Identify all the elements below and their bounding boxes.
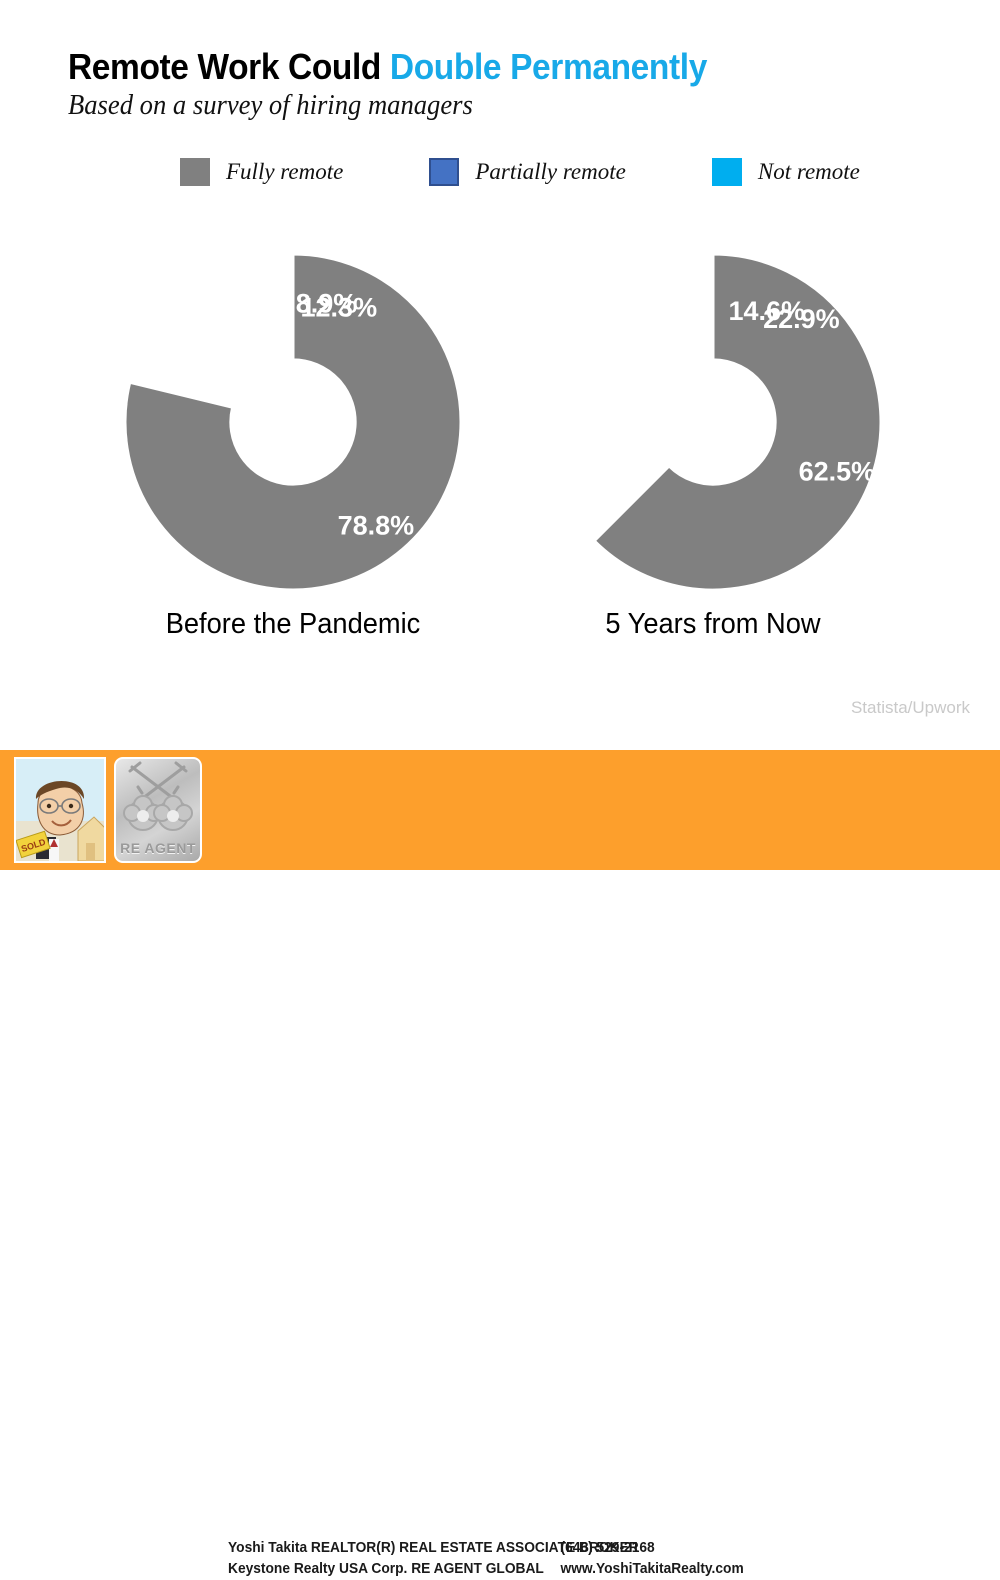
donut-slice-label: 62.5% (799, 456, 876, 486)
portrait-illustration-icon: SOLD (16, 759, 104, 861)
source-credit: Statista/Upwork (851, 698, 970, 718)
donut-slice-label: 8.9% (296, 288, 358, 318)
donut-chart-five-years: 22.9%14.6%62.5% (523, 232, 903, 612)
footer-contact-text: Yoshi Takita REALTOR(R) REAL ESTATE ASSO… (228, 1538, 848, 1580)
legend-swatch-icon (429, 158, 459, 186)
legend-swatch-icon (712, 158, 742, 186)
legend-item-partially-remote: Partially remote (429, 158, 626, 186)
donut-slice-label: 14.6% (729, 296, 806, 326)
donut-svg-0: 12.3%8.9%78.8% (103, 232, 483, 612)
crossed-keys-icon (116, 759, 200, 841)
charts-area: 12.3%8.9%78.8% 22.9%14.6%62.5% (0, 232, 1000, 612)
legend-item-not-remote: Not remote (712, 158, 860, 186)
agent-portrait-logo: SOLD (14, 757, 106, 863)
legend-swatch-icon (180, 158, 210, 186)
footer-bar: SOLD (0, 750, 1000, 870)
legend-item-fully-remote: Fully remote (180, 158, 343, 186)
brokerage-name: Keystone Realty USA Corp. RE AGENT GLOBA… (228, 1559, 561, 1580)
chart-caption-future: 5 Years from Now (534, 608, 891, 641)
infographic-root: Remote Work Could Double Permanently Bas… (0, 0, 1000, 870)
badge-label: RE AGENT (116, 840, 200, 856)
footer-logos: SOLD (14, 757, 202, 863)
title-plain-text: Remote Work Could (68, 46, 390, 87)
re-agent-badge-logo: RE AGENT (114, 757, 202, 863)
legend-item-label: Fully remote (226, 159, 343, 185)
agent-phone[interactable]: (646) 529-2168 (561, 1538, 655, 1559)
legend-item-label: Not remote (758, 159, 860, 185)
donut-slice-label: 78.8% (338, 511, 415, 541)
donut-chart-before-pandemic: 12.3%8.9%78.8% (103, 232, 483, 612)
agent-name-title: Yoshi Takita REALTOR(R) REAL ESTATE ASSO… (228, 1538, 561, 1559)
chart-legend: Fully remote Partially remote Not remote (180, 158, 860, 186)
agent-website[interactable]: www.YoshiTakitaRealty.com (561, 1559, 744, 1580)
footer-line-1: Yoshi Takita REALTOR(R) REAL ESTATE ASSO… (228, 1538, 817, 1559)
page-title: Remote Work Could Double Permanently (68, 46, 707, 88)
donut-svg-1: 22.9%14.6%62.5% (523, 232, 903, 612)
chart-caption-before: Before the Pandemic (114, 608, 471, 641)
footer-line-2: Keystone Realty USA Corp. RE AGENT GLOBA… (228, 1559, 817, 1580)
page-subtitle: Based on a survey of hiring managers (68, 90, 473, 122)
title-accent-text: Double Permanently (390, 46, 707, 87)
legend-item-label: Partially remote (475, 159, 626, 185)
